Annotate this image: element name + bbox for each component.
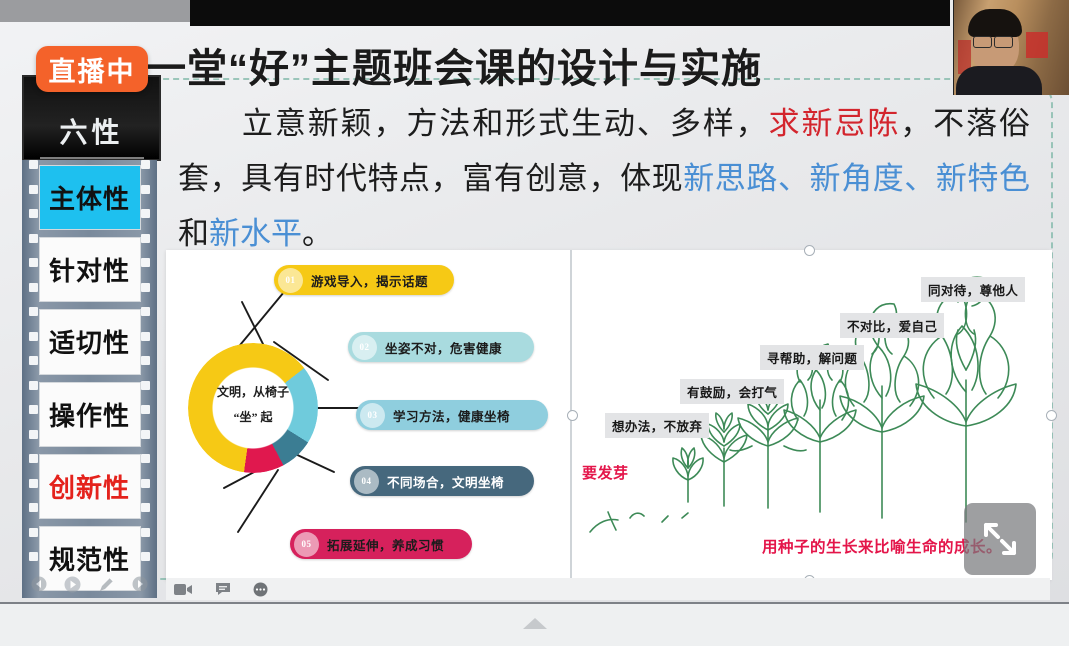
left-diagram-panel: 文明，从椅子 “坐” 起 01 游戏导入，揭示话题 02 坐姿不对，危害健康 0… bbox=[166, 250, 570, 580]
step-pill-04[interactable]: 04 不同场合，文明坐椅 bbox=[350, 466, 534, 496]
step-number-02: 02 bbox=[352, 335, 377, 360]
step-number-03: 03 bbox=[360, 403, 385, 428]
next-icon[interactable] bbox=[132, 576, 148, 592]
growth-label-2: 有鼓励，会打气 bbox=[680, 379, 784, 404]
webcam-background-object-1 bbox=[1026, 32, 1048, 58]
film-perforation-right bbox=[139, 160, 152, 598]
play-icon[interactable] bbox=[64, 576, 81, 593]
presenter-glasses-right bbox=[994, 36, 1013, 48]
prev-icon[interactable] bbox=[31, 576, 47, 592]
paragraph-segment-blue-2: 新水平 bbox=[209, 216, 302, 251]
sidebar-item-caozuoxing[interactable]: 操作性 bbox=[39, 382, 141, 447]
step-pill-03[interactable]: 03 学习方法，健康坐椅 bbox=[356, 400, 548, 430]
paragraph-segment-blue-1: 新思路、新角度、新特色 bbox=[683, 161, 1030, 196]
video-camera-icon[interactable] bbox=[174, 583, 193, 596]
step-number-04: 04 bbox=[354, 469, 379, 494]
step-label-05: 拓展延伸，养成习惯 bbox=[327, 535, 444, 554]
step-pill-02[interactable]: 02 坐姿不对，危害健康 bbox=[348, 332, 534, 362]
donut-center-line-1: 文明，从椅子 bbox=[184, 380, 322, 405]
growth-label-5: 同对待，尊他人 bbox=[921, 277, 1025, 302]
slide-title: 一堂“好”主题班会课的设计与实施 bbox=[146, 46, 762, 92]
collapse-up-icon[interactable] bbox=[523, 618, 547, 629]
filmstrip-header-label: 六性 bbox=[40, 111, 144, 159]
growth-label-4: 不对比，爱自己 bbox=[840, 313, 944, 338]
live-status-badge: 直播中 bbox=[36, 46, 148, 92]
presenter-glasses-left bbox=[973, 36, 992, 48]
resize-handle-top[interactable] bbox=[804, 245, 815, 256]
step-label-04: 不同场合，文明坐椅 bbox=[387, 472, 504, 491]
donut-center-label: 文明，从椅子 “坐” 起 bbox=[184, 380, 322, 430]
slide-bottom-toolbar bbox=[166, 578, 1050, 600]
resize-handle-right[interactable] bbox=[1046, 410, 1057, 421]
sidebar-item-zhutixing[interactable]: 主体性 bbox=[39, 165, 141, 230]
more-options-icon[interactable] bbox=[253, 582, 268, 597]
content-board: 文明，从椅子 “坐” 起 01 游戏导入，揭示话题 02 坐姿不对，危害健康 0… bbox=[166, 250, 1050, 580]
expand-fullscreen-button[interactable] bbox=[964, 503, 1036, 575]
filmstrip-controls bbox=[22, 570, 157, 598]
slide-top-left-strip bbox=[0, 0, 190, 22]
chat-icon[interactable] bbox=[215, 582, 231, 596]
step-label-03: 学习方法，健康坐椅 bbox=[393, 406, 510, 425]
step-label-02: 坐姿不对，危害健康 bbox=[385, 338, 502, 357]
presenter-hair bbox=[968, 9, 1022, 37]
slide-paragraph: 立意新颖，方法和形式生动、多样，求新忌陈，不落俗套，具有时代特点，富有创意，体现… bbox=[178, 96, 1030, 261]
slide-top-black-bar bbox=[190, 0, 950, 26]
step-label-01: 游戏导入，揭示话题 bbox=[311, 271, 428, 290]
donut-center-line-2: “坐” 起 bbox=[184, 405, 322, 430]
growth-label-3: 寻帮助，解问题 bbox=[760, 345, 864, 370]
step-pill-05[interactable]: 05 拓展延伸，养成习惯 bbox=[290, 529, 472, 559]
seed-annotation: 小种子，要发芽 bbox=[572, 462, 629, 483]
paragraph-segment-1: 立意新颖，方法和形式生动、多样， bbox=[240, 106, 769, 141]
paragraph-segment-red: 求新忌陈 bbox=[769, 106, 901, 141]
growth-label-1: 想办法，不放弃 bbox=[605, 413, 709, 438]
sidebar-item-shiqiexing[interactable]: 适切性 bbox=[39, 309, 141, 374]
sidebar-item-chuangxinxing[interactable]: 创新性 bbox=[39, 454, 141, 519]
app-bottom-bar bbox=[0, 602, 1069, 646]
presenter-body bbox=[956, 66, 1042, 95]
app-root: 一堂“好”主题班会课的设计与实施 立意新颖，方法和形式生动、多样，求新忌陈，不落… bbox=[0, 0, 1069, 644]
presenter-webcam-feed[interactable] bbox=[953, 0, 1069, 95]
step-number-01: 01 bbox=[278, 268, 303, 293]
paragraph-segment-7: 。 bbox=[302, 216, 333, 251]
sidebar-item-zhenduixing[interactable]: 针对性 bbox=[39, 237, 141, 302]
paragraph-segment-5: 和 bbox=[178, 216, 209, 251]
pen-icon[interactable] bbox=[98, 576, 115, 593]
resize-handle-left[interactable] bbox=[567, 410, 578, 421]
filmstrip-nav: 主体性 针对性 适切性 操作性 创新性 规范性 bbox=[22, 160, 157, 598]
expand-fullscreen-icon bbox=[978, 517, 1022, 561]
step-pill-01[interactable]: 01 游戏导入，揭示话题 bbox=[274, 265, 454, 295]
step-number-05: 05 bbox=[294, 532, 319, 557]
